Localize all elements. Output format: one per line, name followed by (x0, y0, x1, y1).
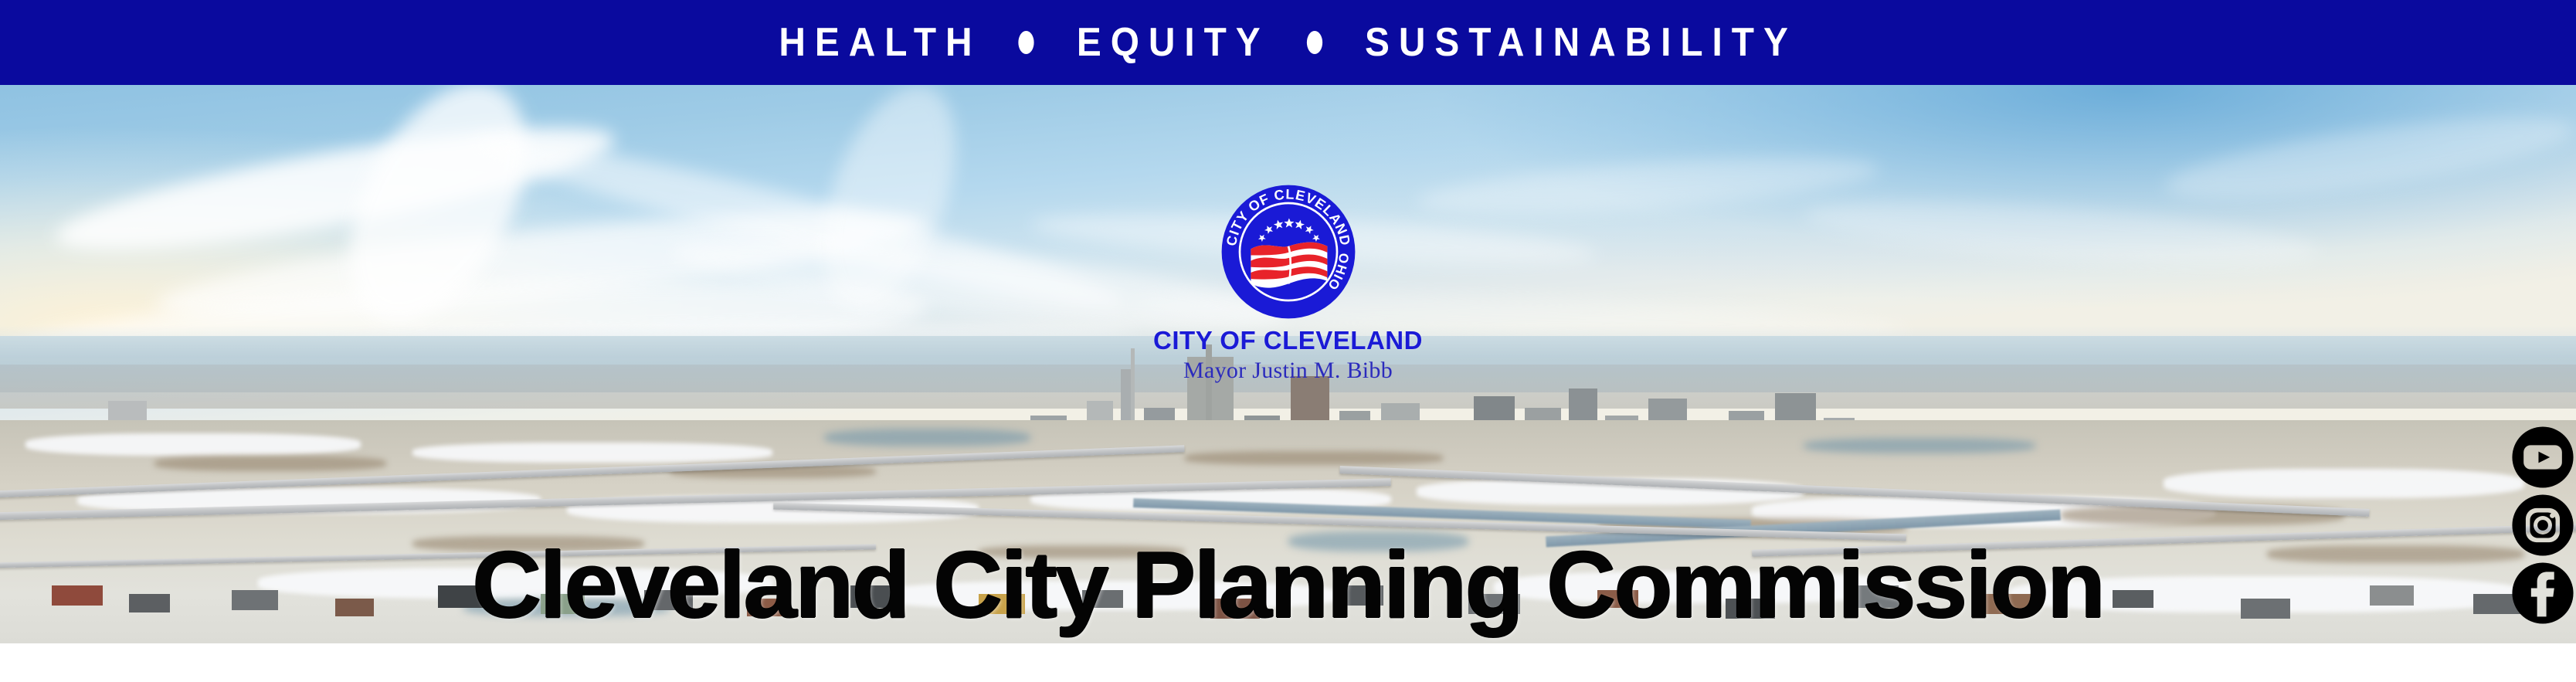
youtube-link[interactable] (2507, 422, 2576, 493)
bottom-white-strip (0, 643, 2576, 682)
tagline-word-equity: EQUITY (1075, 19, 1271, 66)
cleveland-city-planning-header: HEALTH EQUITY SUSTAINABILITY (0, 0, 2576, 682)
city-of-cleveland-seal-icon: CITY OF CLEVELAND OHIO (1219, 182, 1358, 321)
instagram-icon[interactable] (2507, 490, 2576, 561)
tagline-text: HEALTH EQUITY SUSTAINABILITY (777, 19, 1798, 66)
hero-banner: CITY OF CLEVELAND OHIO (0, 85, 2576, 643)
bullet-dot-icon (1018, 31, 1033, 54)
tagline-word-health: HEALTH (777, 19, 983, 66)
tagline-word-sustainability: SUSTAINABILITY (1363, 19, 1799, 66)
seal-mayor-name: Mayor Justin M. Bibb (1111, 359, 1466, 382)
facebook-link[interactable] (2507, 558, 2576, 629)
facebook-icon[interactable] (2507, 558, 2576, 629)
tagline-bar: HEALTH EQUITY SUSTAINABILITY (0, 0, 2576, 85)
bullet-dot-icon (1306, 31, 1322, 54)
youtube-icon[interactable] (2507, 422, 2576, 493)
instagram-link[interactable] (2507, 490, 2576, 561)
social-links (2505, 422, 2576, 626)
midground-neighborhoods (0, 420, 2576, 643)
city-seal-block: CITY OF CLEVELAND OHIO (1111, 182, 1466, 382)
seal-org-name: CITY OF CLEVELAND (1111, 327, 1466, 353)
